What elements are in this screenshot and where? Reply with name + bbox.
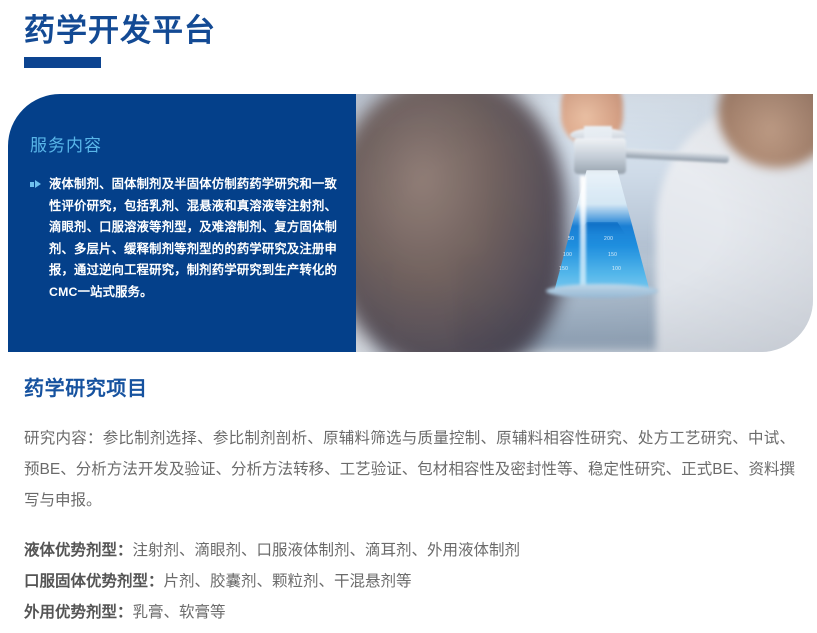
laboratory-photo: 200 150 100 50 100 150	[356, 94, 813, 352]
service-content-bullet-item: 液体制剂、固体制剂及半固体仿制药药学研究和一致性评价研究，包括乳剂、混悬液和真溶…	[30, 174, 340, 303]
hero-card: 服务内容 液体制剂、固体制剂及半固体仿制药药学研究和一致性评价研究，包括乳剂、混…	[8, 94, 813, 352]
service-content-panel: 服务内容 液体制剂、固体制剂及半固体仿制药药学研究和一致性评价研究，包括乳剂、混…	[8, 94, 356, 352]
service-content-text: 液体制剂、固体制剂及半固体仿制药药学研究和一致性评价研究，包括乳剂、混悬液和真溶…	[49, 174, 337, 303]
list-item: 外用优势剂型：乳膏、软膏等	[24, 597, 817, 628]
formulation-value-oral-solid: 片剂、胶囊剂、颗粒剂、干混悬剂等	[164, 573, 412, 590]
list-item: 液体优势剂型：注射剂、滴眼剂、口服液体制剂、滴耳剂、外用液体制剂	[24, 535, 817, 566]
research-section: 药学研究项目 研究内容：参比制剂选择、参比制剂剖析、原辅料筛选与质量控制、原辅料…	[0, 372, 817, 628]
photo-vignette	[356, 94, 813, 352]
research-section-heading: 药学研究项目	[24, 372, 817, 401]
formulation-value-topical: 乳膏、软膏等	[133, 604, 226, 621]
arrow-bullet-icon	[30, 180, 41, 189]
title-accent-bar	[24, 57, 101, 68]
list-item: 口服固体优势剂型：片剂、胶囊剂、颗粒剂、干混悬剂等	[24, 566, 817, 597]
page-header: 药学开发平台	[0, 0, 817, 88]
page-title: 药学开发平台	[24, 11, 216, 51]
formulation-value-liquid: 注射剂、滴眼剂、口服液体制剂、滴耳剂、外用液体制剂	[133, 542, 521, 559]
service-content-heading: 服务内容	[30, 131, 102, 156]
formulation-label-topical: 外用优势剂型：	[24, 604, 133, 621]
research-content-paragraph: 研究内容：参比制剂选择、参比制剂剖析、原辅料筛选与质量控制、原辅料相容性研究、处…	[24, 423, 795, 516]
formulation-label-oral-solid: 口服固体优势剂型：	[24, 573, 164, 590]
formulation-list: 液体优势剂型：注射剂、滴眼剂、口服液体制剂、滴耳剂、外用液体制剂 口服固体优势剂…	[24, 535, 817, 628]
formulation-label-liquid: 液体优势剂型：	[24, 542, 133, 559]
